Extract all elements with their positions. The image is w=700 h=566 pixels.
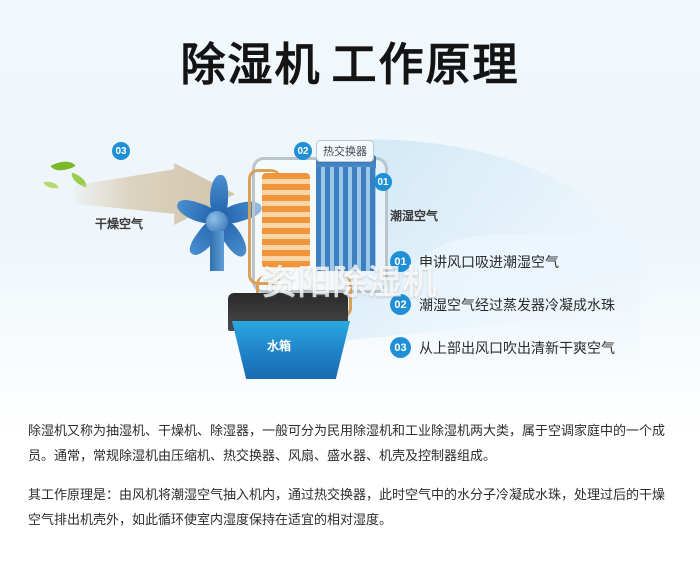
infographic-page: 除湿机工作原理 干燥空气 水箱 (0, 0, 700, 566)
evaporator-coil (316, 167, 376, 271)
step-badge: 02 (390, 294, 411, 315)
fan-hub (206, 211, 228, 233)
heat-exchanger-label: 热交换器 (316, 140, 374, 162)
step-badge: 01 (390, 251, 411, 272)
step-label: 从上部出风口吹出清新干爽空气 (419, 338, 615, 358)
step-item: 03 从上部出风口吹出清新干爽空气 (390, 337, 690, 358)
diagram-illustration: 干燥空气 水箱 02 热交换器 03 01 潮湿空气 (0, 115, 700, 395)
water-tank-label: 水箱 (267, 337, 291, 354)
step-label: 申讲风口吸进潮湿空气 (419, 252, 559, 272)
dry-air-label: 干燥空气 (95, 215, 143, 232)
step-label: 潮湿空气经过蒸发器冷凝成水珠 (419, 295, 615, 315)
page-title: 除湿机工作原理 (0, 28, 700, 93)
description-paragraph-1: 除湿机又称为抽湿机、干燥机、除湿器，一般可分为民用除湿机和工业除湿机两大类，属于… (28, 418, 672, 468)
description-text: 除湿机又称为抽湿机、干燥机、除湿器，一般可分为民用除湿机和工业除湿机两大类，属于… (28, 418, 672, 546)
wet-air-label: 潮湿空气 (390, 207, 438, 224)
step-badge: 03 (390, 337, 411, 358)
badge-03-dry-air: 03 (112, 142, 130, 160)
heat-exchanger-callout: 02 热交换器 (294, 140, 374, 162)
step-list: 01 申讲风口吸进潮湿空气 02 潮湿空气经过蒸发器冷凝成水珠 03 从上部出风… (390, 251, 690, 380)
badge-01-wet-air: 01 (374, 173, 392, 191)
page-title-sub: 工作原理 (332, 39, 520, 90)
badge-02: 02 (294, 142, 312, 160)
fan-stand (210, 231, 224, 271)
condenser-coil (262, 173, 310, 268)
step-item: 01 申讲风口吸进潮湿空气 (390, 251, 690, 272)
page-title-main: 除湿机 (180, 39, 321, 90)
step-item: 02 潮湿空气经过蒸发器冷凝成水珠 (390, 294, 690, 315)
leaf-icon (44, 180, 59, 190)
description-paragraph-2: 其工作原理是：由风机将潮湿空气抽入机内，通过热交换器，此时空气中的水分子冷凝成水… (28, 482, 672, 532)
